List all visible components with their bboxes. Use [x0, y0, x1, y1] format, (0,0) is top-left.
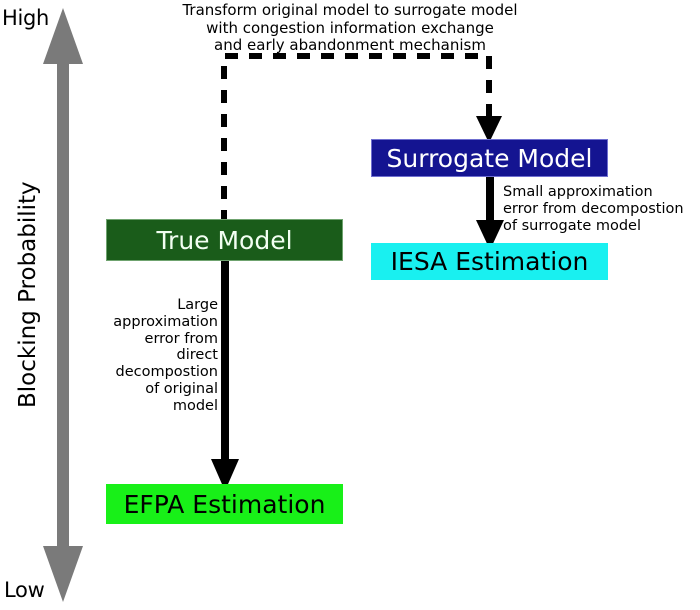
node-surrogate-model-label: Surrogate Model — [387, 146, 593, 171]
node-efpa-estimation-label: EFPA Estimation — [124, 492, 326, 517]
axis-high-label: High — [2, 6, 49, 30]
large-error-line-4: direct — [86, 347, 218, 364]
blocking-probability-axis-arrow — [38, 6, 90, 604]
transform-note: Transform original model to surrogate mo… — [180, 2, 520, 55]
transform-note-line-3: and early abandonment mechanism — [180, 37, 520, 55]
axis-low-label: Low — [4, 578, 44, 602]
axis-title: Blocking Probability — [15, 188, 41, 408]
large-error-line-3: error from — [86, 331, 218, 348]
diagram-canvas: High Low Blocking Probability Transform … — [0, 0, 700, 610]
large-error-line-7: model — [86, 398, 218, 415]
small-error-annotation: Small approximation error from decompost… — [503, 184, 700, 234]
node-iesa-estimation-label: IESA Estimation — [391, 249, 589, 274]
small-error-line-1: Small approximation — [503, 184, 700, 201]
large-error-line-2: approximation — [86, 314, 218, 331]
node-surrogate-model[interactable]: Surrogate Model — [371, 139, 608, 177]
small-error-line-2: error from decompostion — [503, 201, 700, 218]
large-error-line-6: of original — [86, 381, 218, 398]
transform-note-line-1: Transform original model to surrogate mo… — [180, 2, 520, 20]
large-error-annotation: Large approximation error from direct de… — [86, 297, 218, 415]
large-error-line-1: Large — [86, 297, 218, 314]
node-true-model[interactable]: True Model — [106, 219, 343, 261]
transform-note-line-2: with congestion information exchange — [180, 20, 520, 38]
node-true-model-label: True Model — [156, 228, 292, 253]
large-error-line-5: decompostion — [86, 364, 218, 381]
node-efpa-estimation[interactable]: EFPA Estimation — [106, 484, 343, 524]
small-error-line-3: of surrogate model — [503, 218, 700, 235]
node-iesa-estimation[interactable]: IESA Estimation — [371, 243, 608, 280]
